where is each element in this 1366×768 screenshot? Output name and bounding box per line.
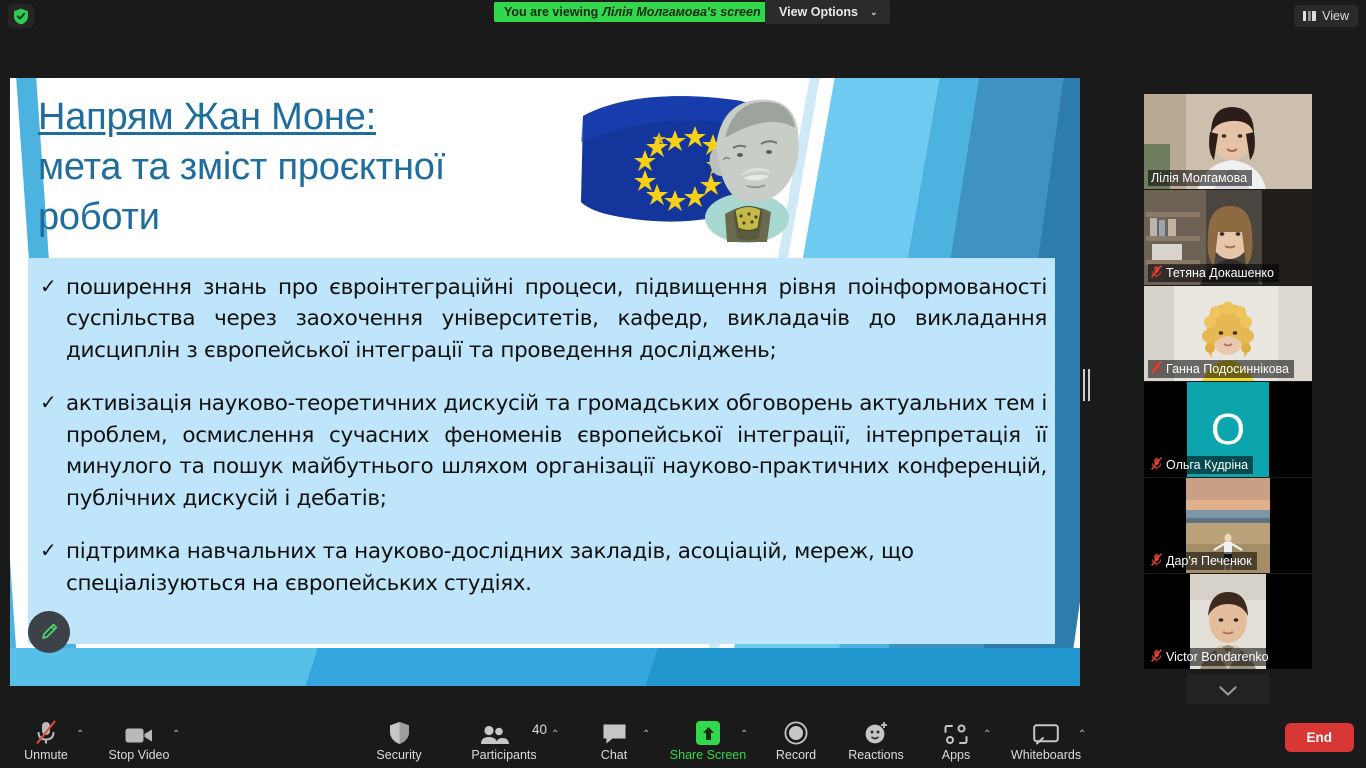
audio-options-caret[interactable]: ⌃ [76, 729, 84, 740]
view-options-label: View Options [779, 5, 858, 19]
filmstrip-scroll-down-button[interactable] [1186, 674, 1270, 708]
annotate-pencil-button[interactable] [28, 611, 70, 653]
slide-title: Напрям Жан Моне: мета та зміст проєктної… [38, 92, 558, 242]
shield-icon [389, 719, 410, 745]
slide-title-underlined: Напрям Жан Моне: [38, 96, 376, 138]
participant-tile[interactable]: Тетяна Докашенко [1144, 190, 1312, 285]
panel-resize-handle[interactable] [1082, 368, 1090, 402]
apps-options-caret[interactable]: ⌃ [983, 729, 991, 740]
view-layout-button[interactable]: View [1294, 5, 1358, 27]
chat-bubble-icon [602, 719, 627, 745]
reactions-smiley-icon [864, 719, 889, 745]
muted-mic-icon [1151, 361, 1162, 377]
security-label: Security [376, 748, 421, 762]
record-icon [784, 719, 808, 745]
slide-bullet-list: ✓ поширення знань про євроінтеграційні п… [28, 258, 1055, 644]
slide-decoration-bottom [642, 648, 1080, 686]
participant-name-tag: Ганна Подосиннікова [1148, 360, 1294, 378]
view-button-label: View [1322, 9, 1349, 23]
share-options-caret[interactable]: ⌃ [740, 729, 748, 740]
muted-mic-icon [1151, 265, 1162, 281]
eu-flag-jean-monnet-icon [575, 86, 825, 256]
apps-icon [944, 719, 968, 745]
participant-name-tag: Дар'я Печенюк [1148, 552, 1257, 570]
chevron-down-icon [1219, 686, 1237, 697]
apps-button[interactable]: Apps [914, 719, 998, 762]
list-item: ✓ підтримка навчальних та науково-дослід… [28, 536, 1055, 599]
muted-mic-icon [1151, 649, 1162, 665]
unmute-label: Unmute [24, 748, 68, 762]
participant-name-tag: Ольга Кудріна [1148, 456, 1253, 474]
list-item: ✓ активізація науково-теоретичних дискус… [28, 388, 1055, 514]
participant-name: Лілія Молгамова [1151, 171, 1247, 185]
chat-options-caret[interactable]: ⌃ [642, 729, 650, 740]
check-icon: ✓ [40, 388, 66, 514]
participants-count: 40 [532, 722, 547, 737]
screen-share-banner: You are viewing Лілія Молгамова's screen [494, 2, 771, 22]
stop-video-button[interactable]: Stop Video [97, 719, 181, 762]
reactions-button[interactable]: Reactions [834, 719, 918, 762]
camera-icon [125, 719, 153, 745]
bullet-text: активізація науково-теоретичних дискусій… [66, 388, 1047, 514]
view-options-button[interactable]: View Options ⌄ [765, 0, 890, 24]
participant-tile[interactable]: О Ольга Кудріна [1144, 382, 1312, 477]
chat-label: Chat [601, 748, 627, 762]
check-icon: ✓ [40, 272, 66, 366]
muted-microphone-icon [35, 719, 57, 745]
apps-label: Apps [942, 748, 971, 762]
presentation-slide: Напрям Жан Моне: мета та зміст проєктної… [10, 78, 1080, 686]
participant-tile[interactable]: Дар'я Печенюк [1144, 478, 1312, 573]
list-item: ✓ поширення знань про євроінтеграційні п… [28, 272, 1055, 366]
slide-title-subtitle: мета та зміст проєктної роботи [38, 146, 445, 238]
end-meeting-button[interactable]: End [1285, 723, 1355, 752]
share-banner-name: Лілія Молгамова's screen [602, 5, 760, 19]
video-options-caret[interactable]: ⌃ [172, 729, 180, 740]
participant-tile[interactable]: Лілія Молгамова [1144, 94, 1312, 189]
participants-options-caret[interactable]: ⌃ [551, 729, 559, 740]
participant-name-tag: Лілія Молгамова [1148, 170, 1252, 186]
whiteboard-icon [1033, 719, 1059, 745]
stop-video-label: Stop Video [109, 748, 170, 762]
participant-name: Ганна Подосиннікова [1166, 362, 1289, 376]
grid-view-icon [1303, 11, 1316, 21]
unmute-button[interactable]: Unmute [4, 719, 88, 762]
whiteboards-options-caret[interactable]: ⌃ [1078, 729, 1086, 740]
participant-name-tag: Victor Bondarenko [1148, 648, 1274, 666]
participant-name: Victor Bondarenko [1166, 650, 1269, 664]
participant-name: Тетяна Докашенко [1166, 266, 1274, 280]
participants-filmstrip: Лілія Молгамова [1144, 94, 1312, 670]
participants-button[interactable]: 40 Participants [462, 719, 546, 762]
record-label: Record [776, 748, 816, 762]
shared-screen-area[interactable]: Напрям Жан Моне: мета та зміст проєктної… [10, 78, 1080, 686]
share-screen-button[interactable]: Share Screen [666, 719, 750, 762]
check-icon: ✓ [40, 536, 66, 599]
zoom-meeting-window: You are viewing Лілія Молгамова's screen… [0, 0, 1366, 768]
share-screen-icon [696, 719, 720, 745]
reactions-label: Reactions [848, 748, 904, 762]
participant-name: Ольга Кудріна [1166, 458, 1248, 472]
meeting-toolbar: Unmute ⌃ Stop Video ⌃ Security [0, 704, 1366, 768]
participant-tile[interactable]: Ганна Подосиннікова [1144, 286, 1312, 381]
whiteboards-label: Whiteboards [1011, 748, 1081, 762]
chat-button[interactable]: Chat [572, 719, 656, 762]
participant-name: Дар'я Печенюк [1166, 554, 1252, 568]
whiteboards-button[interactable]: Whiteboards [1004, 719, 1088, 762]
participant-name-tag: Тетяна Докашенко [1148, 264, 1279, 282]
share-screen-label: Share Screen [670, 748, 746, 762]
security-button[interactable]: Security [357, 719, 441, 762]
top-bar: You are viewing Лілія Молгамова's screen… [0, 0, 1366, 32]
encryption-shield-icon[interactable] [8, 4, 34, 28]
muted-mic-icon [1151, 457, 1162, 473]
participants-icon: 40 [480, 719, 528, 745]
share-banner-prefix: You are viewing [504, 5, 598, 19]
bullet-text: підтримка навчальних та науково-дослідни… [66, 536, 1047, 599]
chevron-down-icon: ⌄ [870, 7, 878, 18]
muted-mic-icon [1151, 553, 1162, 569]
participant-tile[interactable]: Victor Bondarenko [1144, 574, 1312, 669]
participants-label: Participants [471, 748, 536, 762]
record-button[interactable]: Record [754, 719, 838, 762]
bullet-text: поширення знань про євроінтеграційні про… [66, 272, 1047, 366]
